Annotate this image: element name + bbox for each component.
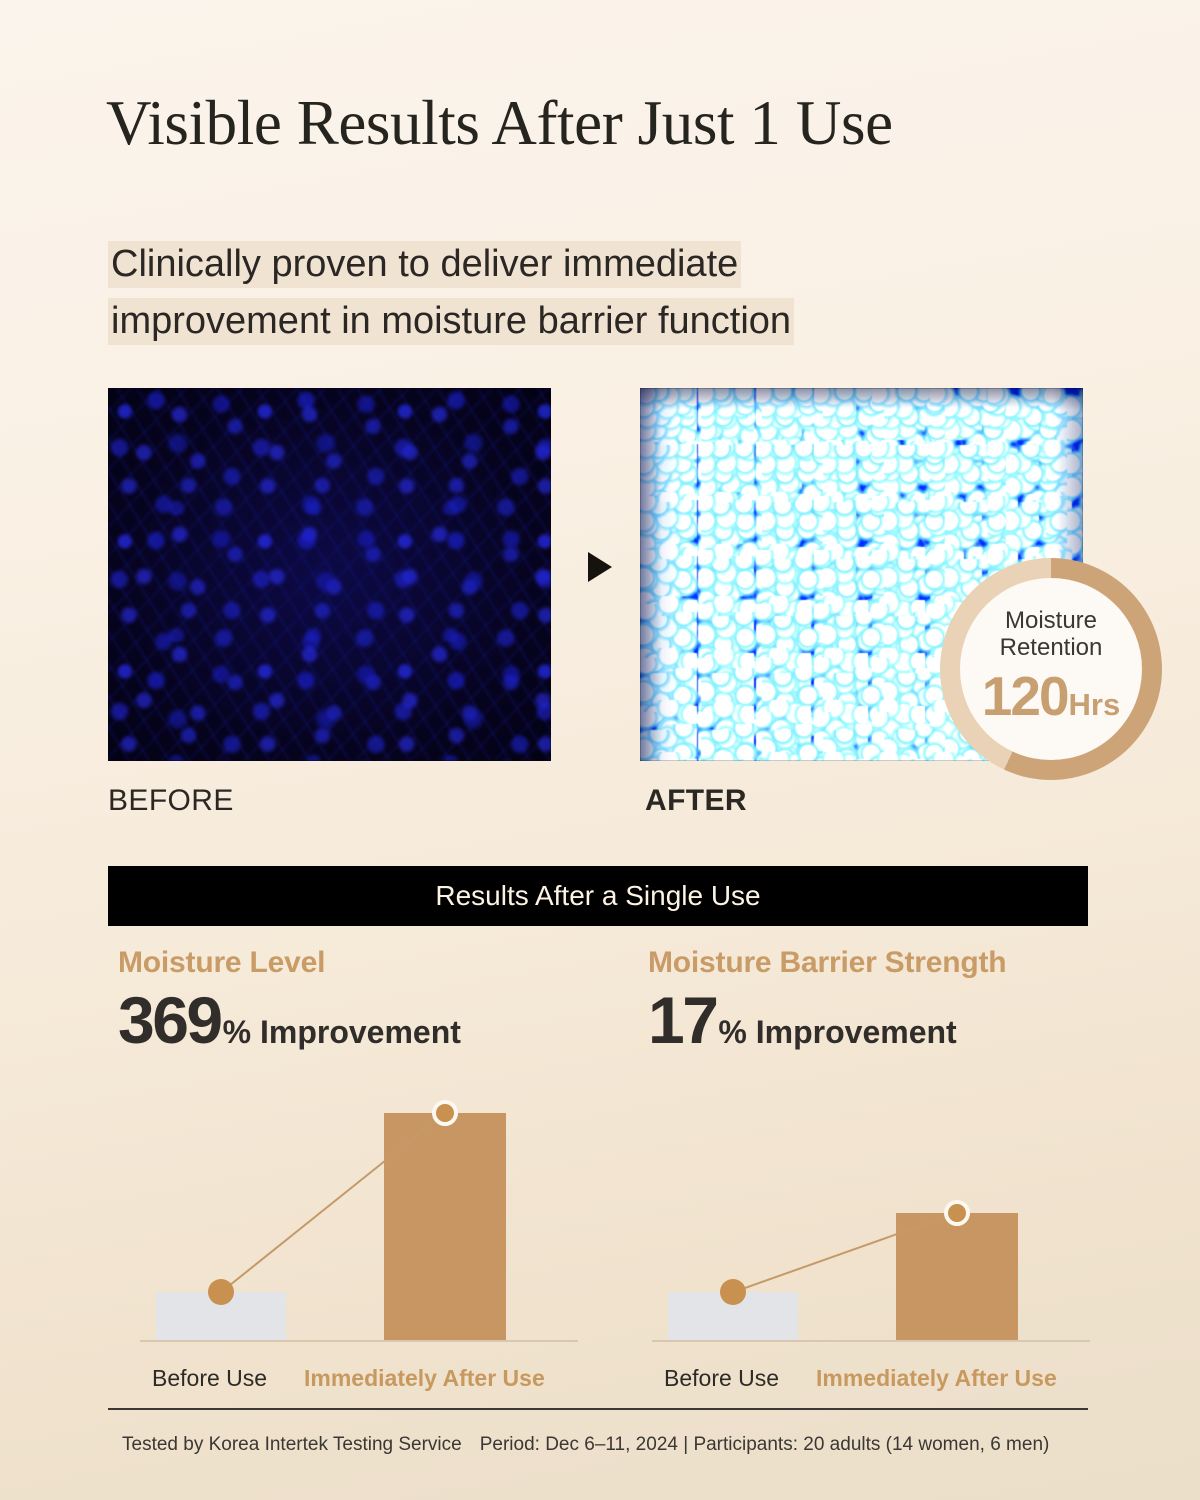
play-triangle-right-icon — [588, 552, 612, 582]
stat-suffix: % Improvement — [718, 1014, 956, 1051]
chart-xlabel-before: Before Use — [152, 1365, 267, 1392]
trend-line — [118, 1080, 588, 1400]
bar-after-use — [896, 1213, 1018, 1340]
page-title: Visible Results After Just 1 Use — [106, 92, 893, 155]
chart-moisture-level: Before Use Immediately After Use — [118, 1080, 588, 1400]
trend-point-after — [432, 1100, 458, 1126]
footnote: Tested by Korea Intertek Testing Service… — [122, 1434, 1049, 1456]
trend-point-before — [720, 1279, 746, 1305]
stat-suffix: % Improvement — [223, 1014, 461, 1051]
subtitle-line-2: improvement in moisture barrier function — [108, 293, 1088, 350]
stat-value: 369 — [118, 982, 221, 1058]
results-banner: Results After a Single Use — [108, 866, 1088, 926]
infographic-page: Visible Results After Just 1 Use Clinica… — [0, 0, 1200, 1500]
chart-baseline — [652, 1340, 1090, 1342]
stat-moisture-barrier-strength: Moisture Barrier Strength 17 % Improveme… — [648, 946, 1006, 1058]
chart-moisture-barrier-strength: Before Use Immediately After Use — [630, 1080, 1100, 1400]
chart-baseline — [140, 1340, 578, 1342]
stat-value: 17 — [648, 982, 716, 1058]
stat-value-row: 369 % Improvement — [118, 982, 461, 1058]
results-banner-text: Results After a Single Use — [435, 880, 760, 912]
before-caption: BEFORE — [108, 784, 234, 818]
chart-xlabel-after: Immediately After Use — [304, 1365, 545, 1392]
after-caption: AFTER — [645, 784, 747, 818]
badge-inner: Moisture Retention 120 Hrs — [960, 578, 1142, 760]
footnote-tested-by: Tested by Korea Intertek Testing Service — [122, 1434, 462, 1455]
badge-label-line-1: Moisture — [1005, 607, 1097, 634]
subtitle: Clinically proven to deliver immediate i… — [108, 236, 1088, 350]
bar-after-use — [384, 1113, 506, 1340]
stat-label: Moisture Level — [118, 946, 461, 980]
footnote-details: Period: Dec 6–11, 2024 | Participants: 2… — [480, 1434, 1050, 1455]
stat-value-row: 17 % Improvement — [648, 982, 1006, 1058]
badge-value-group: 120 Hrs — [982, 664, 1120, 728]
trend-point-after — [944, 1200, 970, 1226]
chart-xlabel-before: Before Use — [664, 1365, 779, 1392]
badge-unit: Hrs — [1069, 687, 1121, 723]
trend-point-before — [208, 1279, 234, 1305]
moisture-retention-badge: Moisture Retention 120 Hrs — [940, 558, 1162, 780]
stat-moisture-level: Moisture Level 369 % Improvement — [118, 946, 461, 1058]
badge-label-line-2: Retention — [1000, 634, 1103, 661]
badge-value: 120 — [982, 664, 1068, 728]
subtitle-line-1: Clinically proven to deliver immediate — [108, 236, 1088, 293]
before-skin-texture — [108, 388, 551, 761]
trend-line — [630, 1080, 1100, 1400]
chart-xlabel-after: Immediately After Use — [816, 1365, 1057, 1392]
stat-label: Moisture Barrier Strength — [648, 946, 1006, 980]
footer-divider — [108, 1408, 1088, 1410]
before-skin-image — [108, 388, 551, 761]
